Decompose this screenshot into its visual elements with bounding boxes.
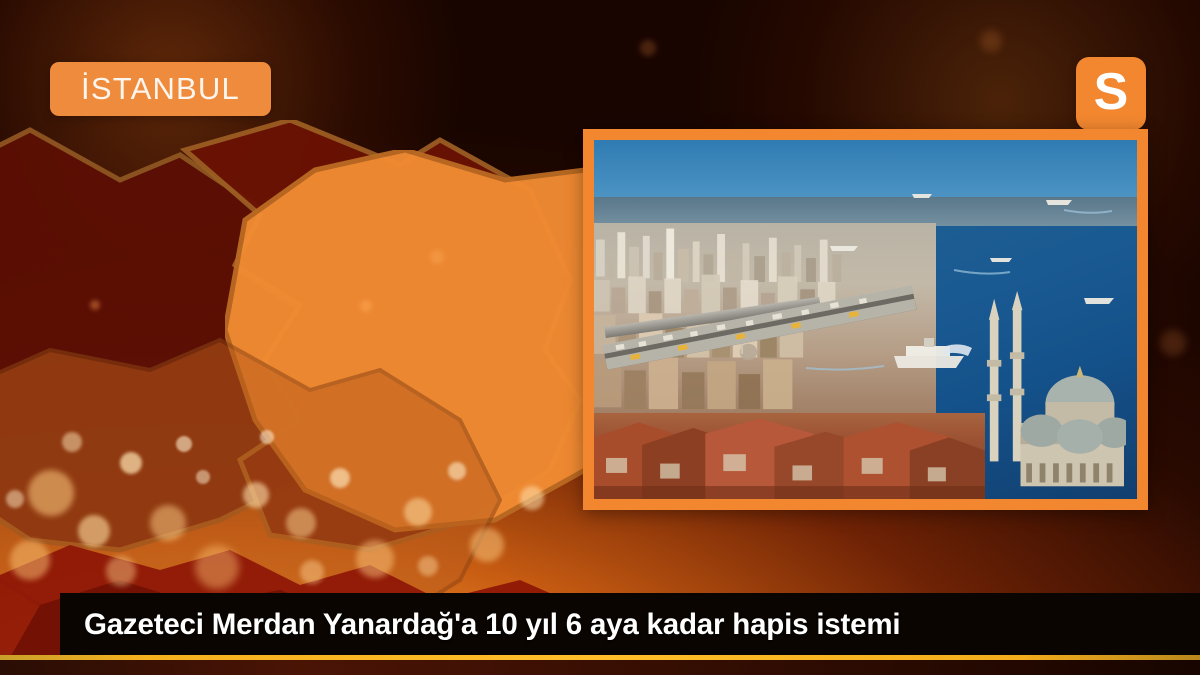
footer-strip: [0, 660, 1200, 675]
bokeh-dot: [120, 452, 142, 474]
bokeh-dot: [640, 40, 656, 56]
city-badge: İSTANBUL: [50, 62, 271, 116]
bokeh-dot: [6, 490, 24, 508]
bokeh-dot: [980, 30, 1002, 52]
istanbul-photo: [594, 140, 1137, 499]
bokeh-dot: [300, 560, 324, 584]
bokeh-dot: [78, 515, 110, 547]
bokeh-dot: [448, 462, 466, 480]
bokeh-dot: [260, 430, 274, 444]
photo-new-mosque: [963, 291, 1126, 492]
city-badge-label: İSTANBUL: [81, 73, 240, 106]
bokeh-dot: [1160, 330, 1186, 356]
bokeh-dot: [418, 556, 438, 576]
bokeh-dot: [286, 508, 316, 538]
bokeh-dot: [470, 528, 504, 562]
bokeh-dot: [106, 556, 136, 586]
bokeh-dot: [360, 300, 372, 312]
headline-text: Gazeteci Merdan Yanardağ'a 10 yıl 6 aya …: [60, 608, 900, 642]
bokeh-dot: [430, 250, 444, 264]
logo-letter: S: [1094, 66, 1129, 122]
headline-bar: Gazeteci Merdan Yanardağ'a 10 yıl 6 aya …: [60, 593, 1200, 656]
bokeh-dot: [243, 482, 269, 508]
photo-frame: [583, 129, 1148, 510]
bokeh-dot: [404, 498, 432, 526]
bokeh-dot: [196, 470, 210, 484]
news-card: İSTANBUL S: [0, 0, 1200, 675]
s-logo[interactable]: S: [1076, 57, 1146, 130]
bokeh-dot: [90, 300, 100, 310]
rooftop-shapes: [594, 413, 985, 499]
bokeh-dot: [10, 540, 50, 580]
bokeh-dot: [330, 468, 350, 488]
bokeh-dot: [356, 540, 394, 578]
bokeh-dot: [176, 436, 192, 452]
bokeh-dot: [195, 545, 239, 589]
photo-rooftops: [594, 413, 985, 499]
bokeh-dot: [28, 470, 74, 516]
bokeh-dot: [150, 505, 186, 541]
bokeh-dot: [62, 432, 82, 452]
bokeh-dot: [520, 486, 544, 510]
